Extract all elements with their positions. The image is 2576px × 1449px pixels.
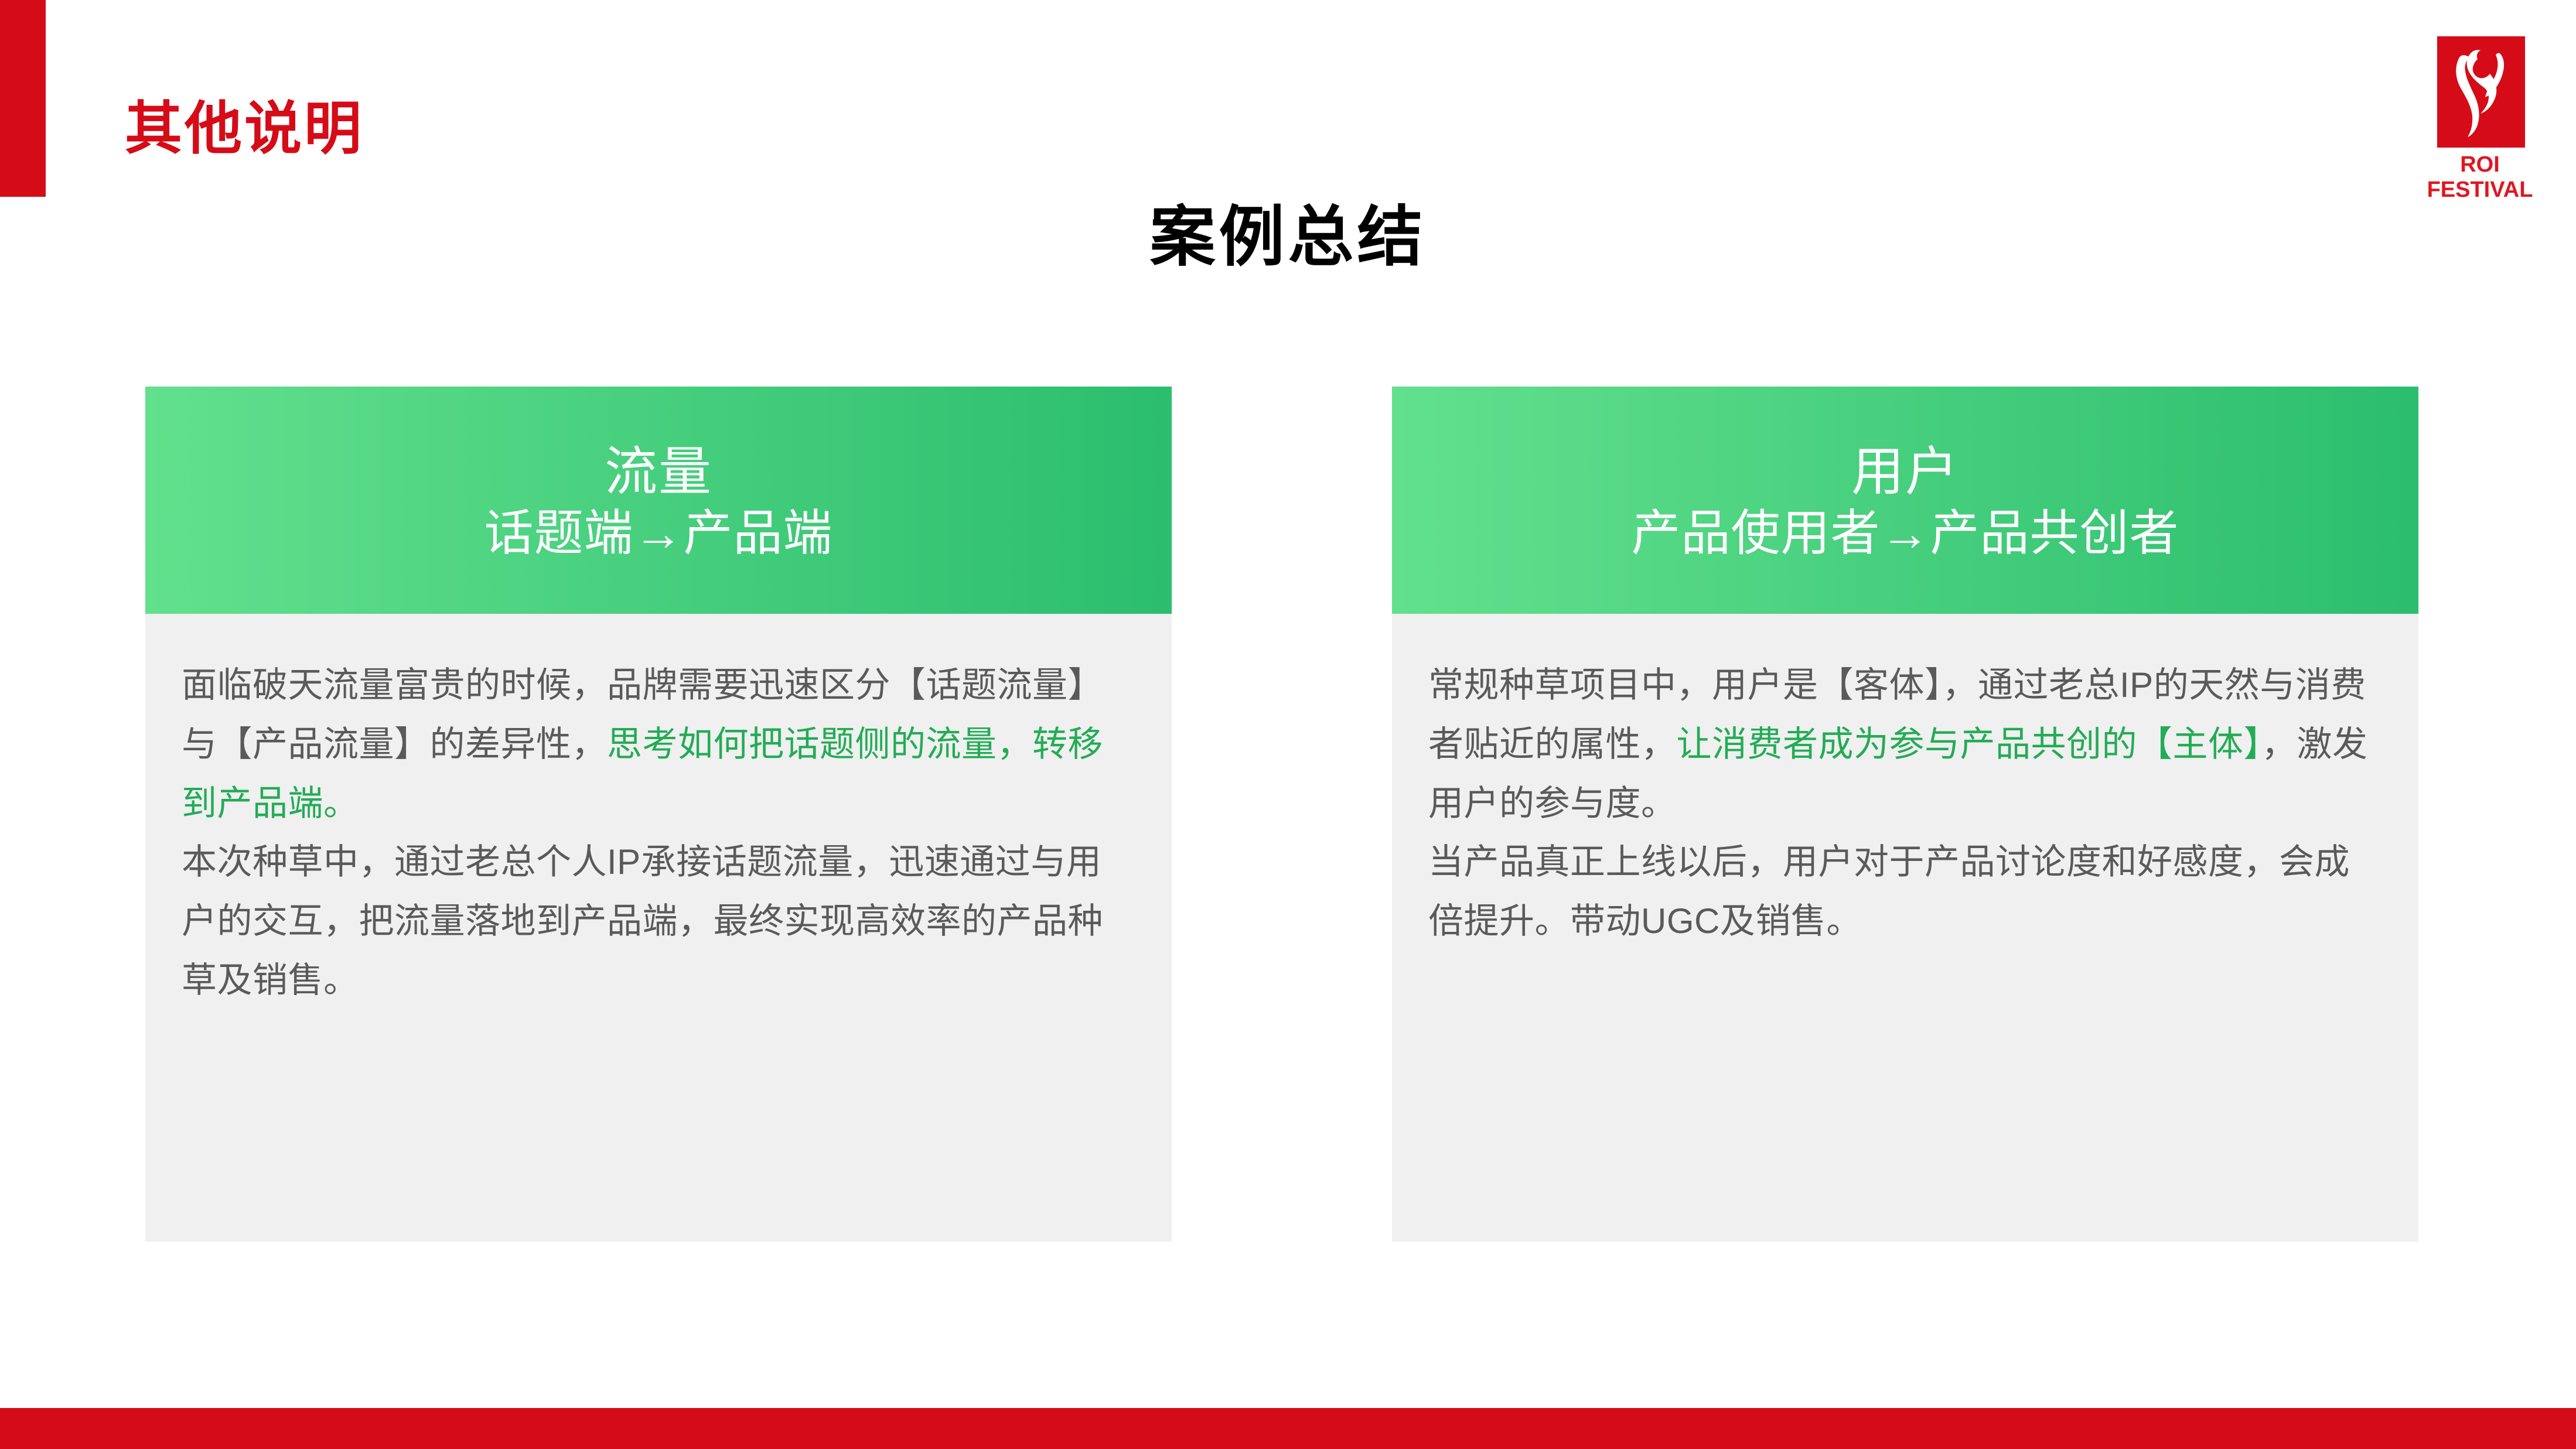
section-title: 其他说明: [125, 100, 364, 157]
page-title: 案例总结: [0, 198, 2576, 276]
card-header-sub-label: 产品使用者→产品共创者: [1631, 503, 2179, 563]
header-accent-bar: [0, 0, 46, 197]
summary-card-user: 用户 产品使用者→产品共创者 常规种草项目中，用户是【客体】，通过老总IP的天然…: [1392, 387, 2418, 1242]
card-header-main-label: 流量: [605, 441, 712, 503]
card-paragraph: 常规种草项目中，用户是【客体】，通过老总IP的天然与消费者贴近的属性，让消费者成…: [1428, 656, 2382, 833]
card-body-user: 常规种草项目中，用户是【客体】，通过老总IP的天然与消费者贴近的属性，让消费者成…: [1392, 614, 2418, 1242]
body-text: 本次种草中，通过老总个人IP承接话题流量，迅速通过与用户的交互，把流量落地到产品…: [182, 842, 1103, 1000]
card-paragraph: 当产品真正上线以后，用户对于产品讨论度和好感度，会成倍提升。带动UGC及销售。: [1428, 833, 2382, 951]
roi-festival-logo: ROI FESTIVAL: [2407, 13, 2553, 200]
card-paragraph: 本次种草中，通过老总个人IP承接话题流量，迅速通过与用户的交互，把流量落地到产品…: [182, 833, 1135, 1010]
highlighted-text: 让消费者成为参与产品共创的【主体】: [1677, 724, 2262, 764]
card-header-traffic: 流量 话题端→产品端: [145, 387, 1172, 614]
footer-bar: [0, 1408, 2576, 1449]
card-header-user: 用户 产品使用者→产品共创者: [1392, 387, 2418, 614]
roi-festival-figure-icon: [2437, 36, 2525, 148]
card-header-main-label: 用户: [1851, 441, 1959, 503]
card-body-traffic: 面临破天流量富贵的时候，品牌需要迅速区分【话题流量】与【产品流量】的差异性，思考…: [145, 614, 1172, 1242]
card-header-sub-label: 话题端→产品端: [484, 503, 832, 563]
logo-wordmark: ROI FESTIVAL: [2407, 152, 2553, 203]
card-paragraph: 面临破天流量富贵的时候，品牌需要迅速区分【话题流量】与【产品流量】的差异性，思考…: [182, 656, 1135, 833]
body-text: 当产品真正上线以后，用户对于产品讨论度和好感度，会成倍提升。带动UGC及销售。: [1428, 842, 2350, 941]
summary-card-traffic: 流量 话题端→产品端 面临破天流量富贵的时候，品牌需要迅速区分【话题流量】与【产…: [145, 387, 1172, 1242]
